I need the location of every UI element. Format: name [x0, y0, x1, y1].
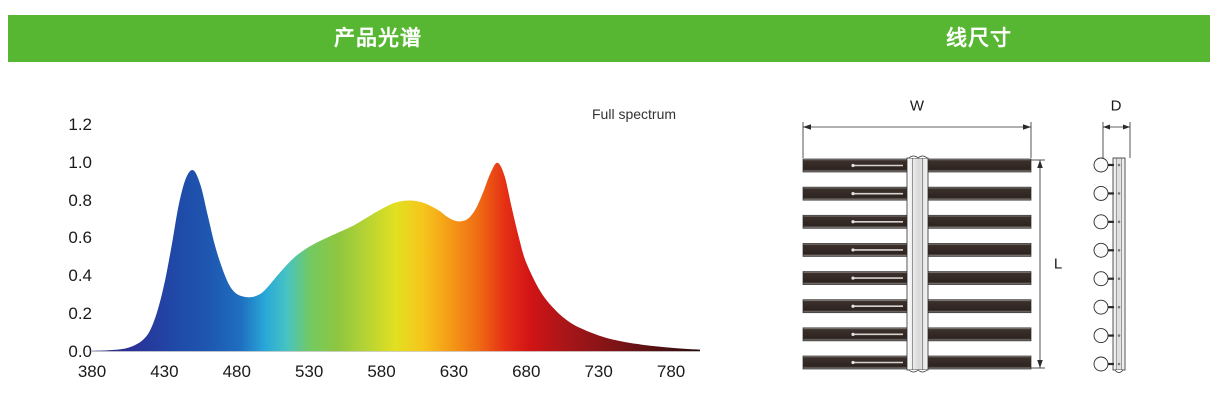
- led-bar-side-profile: [1094, 272, 1108, 286]
- side-view-screw: [1118, 221, 1121, 224]
- led-bar-top-view: [925, 243, 1031, 256]
- dimension-label-depth: D: [1111, 98, 1122, 115]
- led-bar-side-profile: [1094, 243, 1108, 257]
- led-bar-connector: [851, 192, 854, 195]
- led-bar-top-view: [925, 159, 1031, 172]
- led-bar-top-view: [925, 328, 1031, 341]
- side-view-profile: [1113, 158, 1125, 373]
- led-bar-top-view: [925, 272, 1031, 285]
- side-view-screw: [1118, 249, 1121, 252]
- led-bar-side-profile: [1094, 186, 1108, 200]
- section-title-product-spectrum: 产品光谱: [8, 15, 748, 62]
- led-bar-top-view: [925, 356, 1031, 369]
- dimension-label-length: L: [1054, 256, 1062, 273]
- led-bar-connector: [851, 248, 854, 251]
- top-view-center-spine: [907, 156, 928, 372]
- top-view-length-dimension: [1031, 160, 1045, 368]
- side-view-depth-dimension: [1103, 122, 1130, 158]
- led-bar-side-profile: [1094, 329, 1108, 343]
- led-bar-top-view: [925, 300, 1031, 313]
- dimension-drawing-panel: W L D: [720, 70, 1221, 417]
- side-view-screw: [1118, 306, 1121, 309]
- led-bar-side-profile: [1094, 215, 1108, 229]
- side-view-screw: [1118, 164, 1121, 167]
- side-view-screw: [1118, 334, 1121, 337]
- section-header-band: 产品光谱 线尺寸: [8, 15, 1210, 62]
- spectrum-curve: [0, 70, 720, 417]
- led-bar-connector: [851, 333, 854, 336]
- led-bar-top-view: [925, 215, 1031, 228]
- led-bar-side-profile: [1094, 357, 1108, 371]
- led-bar-connector: [851, 305, 854, 308]
- side-view-screw: [1118, 192, 1121, 195]
- side-view-screw: [1118, 363, 1121, 366]
- spectrum-chart-panel: Full spectrum 0.00.20.40.60.81.01.2 3804…: [0, 70, 720, 417]
- dimension-drawing-svg: [720, 70, 1221, 417]
- section-title-line-dimensions: 线尺寸: [748, 15, 1210, 62]
- dimension-label-width: W: [910, 98, 924, 115]
- top-view-width-dimension: [803, 122, 1031, 158]
- led-bar-connector: [851, 164, 854, 167]
- page-root: 产品光谱 线尺寸 Full spectrum 0.00.20.40.60.81.…: [0, 0, 1221, 417]
- side-view-screw: [1118, 277, 1121, 280]
- led-bar-side-profile: [1094, 158, 1108, 172]
- led-bar-connector: [851, 276, 854, 279]
- led-bar-side-profile: [1094, 300, 1108, 314]
- led-bar-top-view: [925, 187, 1031, 200]
- led-bar-connector: [851, 220, 854, 223]
- led-bar-connector: [851, 361, 854, 364]
